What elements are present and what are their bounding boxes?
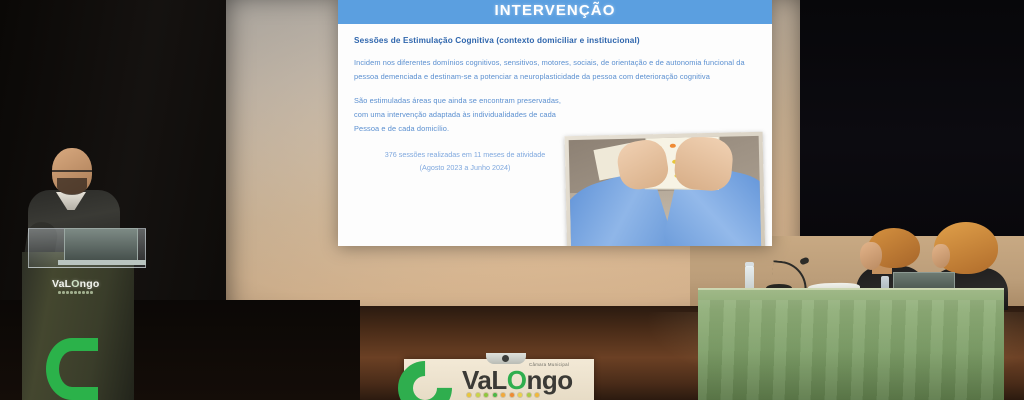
slide-title: INTERVENÇÃO (494, 2, 615, 19)
speaker-beard (57, 178, 87, 195)
slide-paragraph-2: São estimuladas áreas que ainda se encon… (354, 94, 576, 135)
photo-hand-right (674, 136, 735, 192)
camera-icon (486, 353, 526, 364)
panelist-1-face (860, 242, 882, 270)
slide-note-line-1: 376 sessões realizadas em 11 meses de at… (354, 149, 576, 162)
valongo-tagline: Câmara Municipal (529, 362, 569, 367)
valongo-dot (534, 392, 540, 398)
valongo-word-left: VaL (462, 365, 507, 395)
podium-logo-dots (58, 291, 93, 294)
valongo-dot (483, 392, 489, 398)
podium-laptop (64, 228, 138, 262)
microphone-capsule (799, 257, 810, 266)
podium-green-arc (46, 338, 98, 400)
slide-subtitle: Sessões de Estimulação Cognitiva (contex… (354, 36, 758, 45)
slide-photo (565, 132, 766, 246)
valongo-dot (475, 392, 481, 398)
slide-body: Sessões de Estimulação Cognitiva (contex… (338, 24, 772, 175)
podium-laptop-base (58, 260, 146, 265)
valongo-dot (466, 392, 472, 398)
slide-note-line-2: (Agosto 2023 a Junho 2024) (354, 162, 576, 175)
valongo-dot (526, 392, 532, 398)
panel-tablecloth-folds (698, 300, 1004, 400)
valongo-dot (517, 392, 523, 398)
slide-photo-content (569, 136, 762, 246)
slide-paragraph-1: Incidem nos diferentes domínios cognitiv… (354, 56, 746, 83)
valongo-dot-row (466, 392, 540, 398)
projected-slide: INTERVENÇÃO Sessões de Estimulação Cogni… (338, 0, 772, 246)
glasses-icon (52, 170, 92, 179)
podium-logo-o: O (71, 278, 79, 290)
slide-header-band: INTERVENÇÃO (338, 0, 772, 24)
valongo-word-o: O (507, 365, 527, 395)
valongo-floor-sign: VaLOngo Câmara Municipal (404, 359, 594, 400)
valongo-dot (492, 392, 498, 398)
podium-logo-left: VaL (52, 278, 71, 290)
valongo-dot (500, 392, 506, 398)
podium-logo-right: ngo (80, 278, 100, 290)
valongo-dot (509, 392, 515, 398)
slide-note: 376 sessões realizadas em 11 meses de at… (354, 149, 576, 175)
presentation-photo: INTERVENÇÃO Sessões de Estimulação Cogni… (0, 0, 1024, 400)
stage-curtain-right (800, 0, 1024, 236)
panelist-2-face (932, 244, 950, 268)
podium-logo: VaLOngo (52, 278, 100, 290)
valongo-word-right: ngo (526, 365, 572, 395)
